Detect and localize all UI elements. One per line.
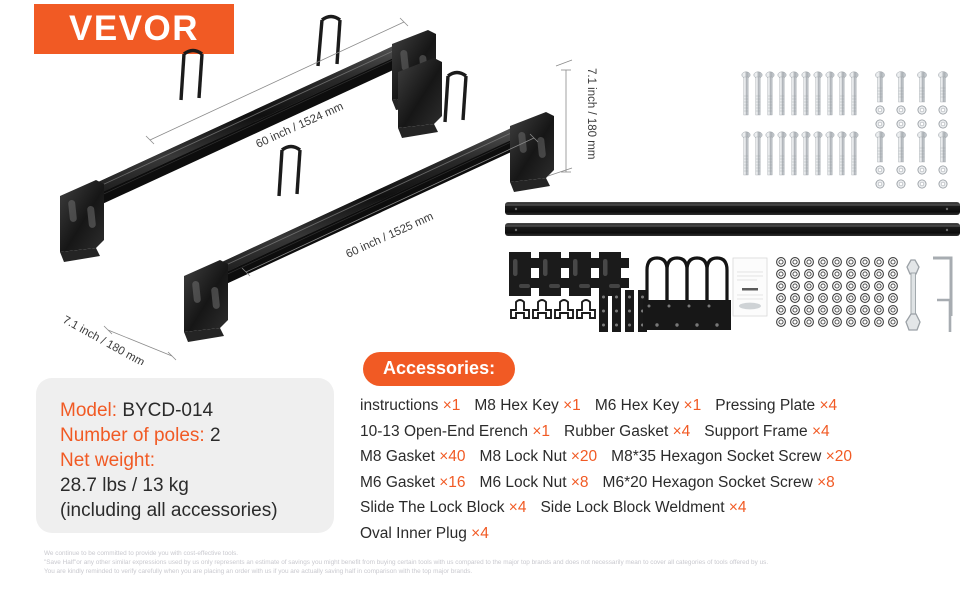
accessory-item: M8*35 Hexagon Socket Screw ×20	[611, 448, 852, 465]
accessory-name: Side Lock Block Weldment	[540, 499, 728, 516]
footer-line: "Save Half"or any other similar expressi…	[44, 558, 934, 567]
accessory-qty: ×4	[509, 499, 527, 516]
accessory-qty: ×4	[729, 499, 747, 516]
accessory-item: M6 Hex Key ×1	[595, 397, 701, 414]
long-bolts-row-2	[742, 132, 858, 175]
accessories-row: Slide The Lock Block ×4Side Lock Block W…	[360, 495, 960, 521]
accessory-name: M8*35 Hexagon Socket Screw	[611, 448, 826, 465]
accessory-qty: ×4	[819, 397, 837, 414]
front-loop-bracket-2	[445, 73, 466, 123]
accessory-item: instructions ×1	[360, 397, 460, 414]
accessory-item: M6 Lock Nut ×8	[480, 474, 589, 491]
support-frames	[643, 258, 731, 330]
rear-loop-bracket-2	[181, 51, 202, 101]
instruction-manual	[733, 258, 767, 316]
accessory-qty: ×1	[532, 423, 550, 440]
hex-key-m6	[937, 300, 950, 332]
accessory-name: Support Frame	[704, 423, 812, 440]
spec-weight-note: (including all accessories)	[60, 498, 334, 523]
pressing-plates	[511, 300, 595, 318]
accessory-item: Pressing Plate ×4	[715, 397, 837, 414]
accessory-name: M8 Gasket	[360, 448, 439, 465]
spec-model-label: Model:	[60, 400, 117, 421]
washers-row-2	[876, 166, 947, 188]
spec-weight-label-line: Net weight:	[60, 448, 334, 473]
accessory-qty: ×20	[571, 448, 597, 465]
spec-model-value: BYCD-014	[122, 400, 213, 421]
spec-poles-label: Number of poles:	[60, 425, 205, 446]
accessories-list: instructions ×1M8 Hex Key ×1M6 Hex Key ×…	[360, 393, 960, 546]
rear-foot-mid	[398, 58, 442, 138]
accessory-item: M8 Gasket ×40	[360, 448, 466, 465]
spec-poles-value: 2	[210, 425, 221, 446]
spec-weight-value: 28.7 lbs / 13 kg	[60, 473, 334, 498]
accessory-item: Side Lock Block Weldment ×4	[540, 499, 746, 516]
accessory-qty: ×4	[812, 423, 830, 440]
accessories-row: M8 Gasket ×40M8 Lock Nut ×20M8*35 Hexago…	[360, 444, 960, 470]
footer-disclaimer: We continue to be committed to provide y…	[44, 549, 934, 576]
rear-loop-bracket-1	[318, 17, 340, 67]
spec-poles: Number of poles: 2	[60, 423, 334, 448]
accessory-name: Slide The Lock Block	[360, 499, 509, 516]
accessory-name: M6 Gasket	[360, 474, 439, 491]
accessory-qty: ×4	[471, 525, 489, 542]
front-loop-bracket-1	[279, 147, 300, 197]
accessory-qty: ×4	[673, 423, 691, 440]
rear-foot-left	[60, 180, 104, 262]
accessory-name: M6 Hex Key	[595, 397, 684, 414]
accessory-name: Oval Inner Plug	[360, 525, 471, 542]
accessory-name: M8 Lock Nut	[480, 448, 571, 465]
accessory-item: M8 Hex Key ×1	[474, 397, 580, 414]
spec-model: Model: BYCD-014	[60, 398, 334, 423]
dim-width-front: 7.1 inch / 180 mm	[61, 314, 147, 365]
accessory-qty: ×16	[439, 474, 465, 491]
slide-lock-blocks	[599, 290, 647, 332]
accessory-qty: ×1	[684, 397, 702, 414]
parts-illustration	[495, 60, 970, 345]
accessory-item: M8 Lock Nut ×20	[480, 448, 598, 465]
accessories-row: M6 Gasket ×16M6 Lock Nut ×8M6*20 Hexagon…	[360, 470, 960, 496]
footer-line: We continue to be committed to provide y…	[44, 549, 934, 558]
accessory-qty: ×20	[826, 448, 852, 465]
short-bolts-row-2	[875, 132, 947, 162]
accessory-qty: ×8	[571, 474, 589, 491]
crossbar-tube-1	[505, 202, 960, 215]
accessory-qty: ×40	[439, 448, 465, 465]
gasket-grid	[777, 258, 898, 327]
long-bolts-row-1	[742, 72, 858, 115]
accessory-name: instructions	[360, 397, 443, 414]
accessory-item: Oval Inner Plug ×4	[360, 525, 489, 542]
hex-key-m8	[933, 258, 951, 316]
accessories-row: Oval Inner Plug ×4	[360, 521, 960, 547]
accessory-name: 10-13 Open-End Erench	[360, 423, 532, 440]
rear-bar-assembly	[60, 17, 442, 263]
side-lock-block-weldments	[509, 252, 629, 296]
front-foot-left	[184, 260, 228, 342]
washers-row-1	[876, 106, 947, 128]
accessory-item: M6 Gasket ×16	[360, 474, 466, 491]
accessory-qty: ×1	[563, 397, 581, 414]
accessory-qty: ×1	[443, 397, 461, 414]
open-end-wrench	[906, 260, 920, 330]
accessory-name: M6*20 Hexagon Socket Screw	[603, 474, 818, 491]
accessory-item: 10-13 Open-End Erench ×1	[360, 423, 550, 440]
accessories-row: instructions ×1M8 Hex Key ×1M6 Hex Key ×…	[360, 393, 960, 419]
accessory-name: M8 Hex Key	[474, 397, 563, 414]
accessory-name: M6 Lock Nut	[480, 474, 571, 491]
accessory-item: M6*20 Hexagon Socket Screw ×8	[603, 474, 835, 491]
spec-weight-label: Net weight:	[60, 450, 155, 471]
short-bolts-row-1	[875, 72, 947, 102]
accessory-item: Support Frame ×4	[704, 423, 829, 440]
accessory-name: Pressing Plate	[715, 397, 819, 414]
accessories-row: 10-13 Open-End Erench ×1Rubber Gasket ×4…	[360, 419, 960, 445]
accessory-qty: ×8	[817, 474, 835, 491]
footer-line: You are kindly reminded to verify carefu…	[44, 567, 934, 576]
accessory-name: Rubber Gasket	[564, 423, 673, 440]
product-infographic: VEVOR	[0, 0, 970, 600]
hardware-parts-diagram	[495, 60, 970, 345]
accessory-item: Slide The Lock Block ×4	[360, 499, 526, 516]
accessory-item: Rubber Gasket ×4	[564, 423, 690, 440]
accessories-title-badge: Accessories:	[363, 352, 515, 386]
crossbar-tube-2	[505, 223, 960, 236]
spec-panel: Model: BYCD-014 Number of poles: 2 Net w…	[36, 378, 334, 533]
